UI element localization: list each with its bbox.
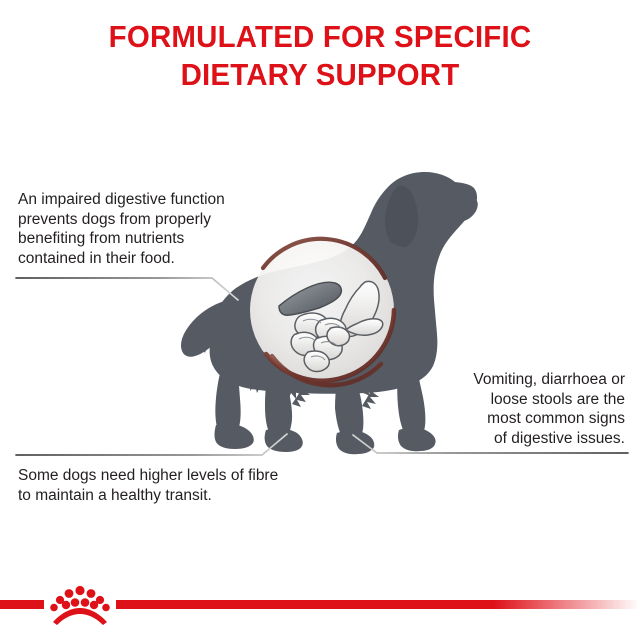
infographic-page: FORMULATED FOR SPECIFIC DIETARY SUPPORT — [0, 0, 640, 640]
footer-bar-right — [116, 600, 640, 609]
footer-brand-bar — [0, 568, 640, 640]
callout-text-right: Vomiting, diarrhoea or loose stools are … — [425, 370, 625, 448]
leader-line-top-left — [16, 278, 238, 300]
dog-digestive-illustration — [0, 0, 640, 640]
crown-icon — [50, 586, 110, 625]
footer-bar-left — [0, 600, 44, 609]
callout-text-top-left: An impaired digestive function prevents … — [18, 190, 273, 268]
callout-text-bottom-left: Some dogs need higher levels of fibre to… — [18, 466, 338, 505]
